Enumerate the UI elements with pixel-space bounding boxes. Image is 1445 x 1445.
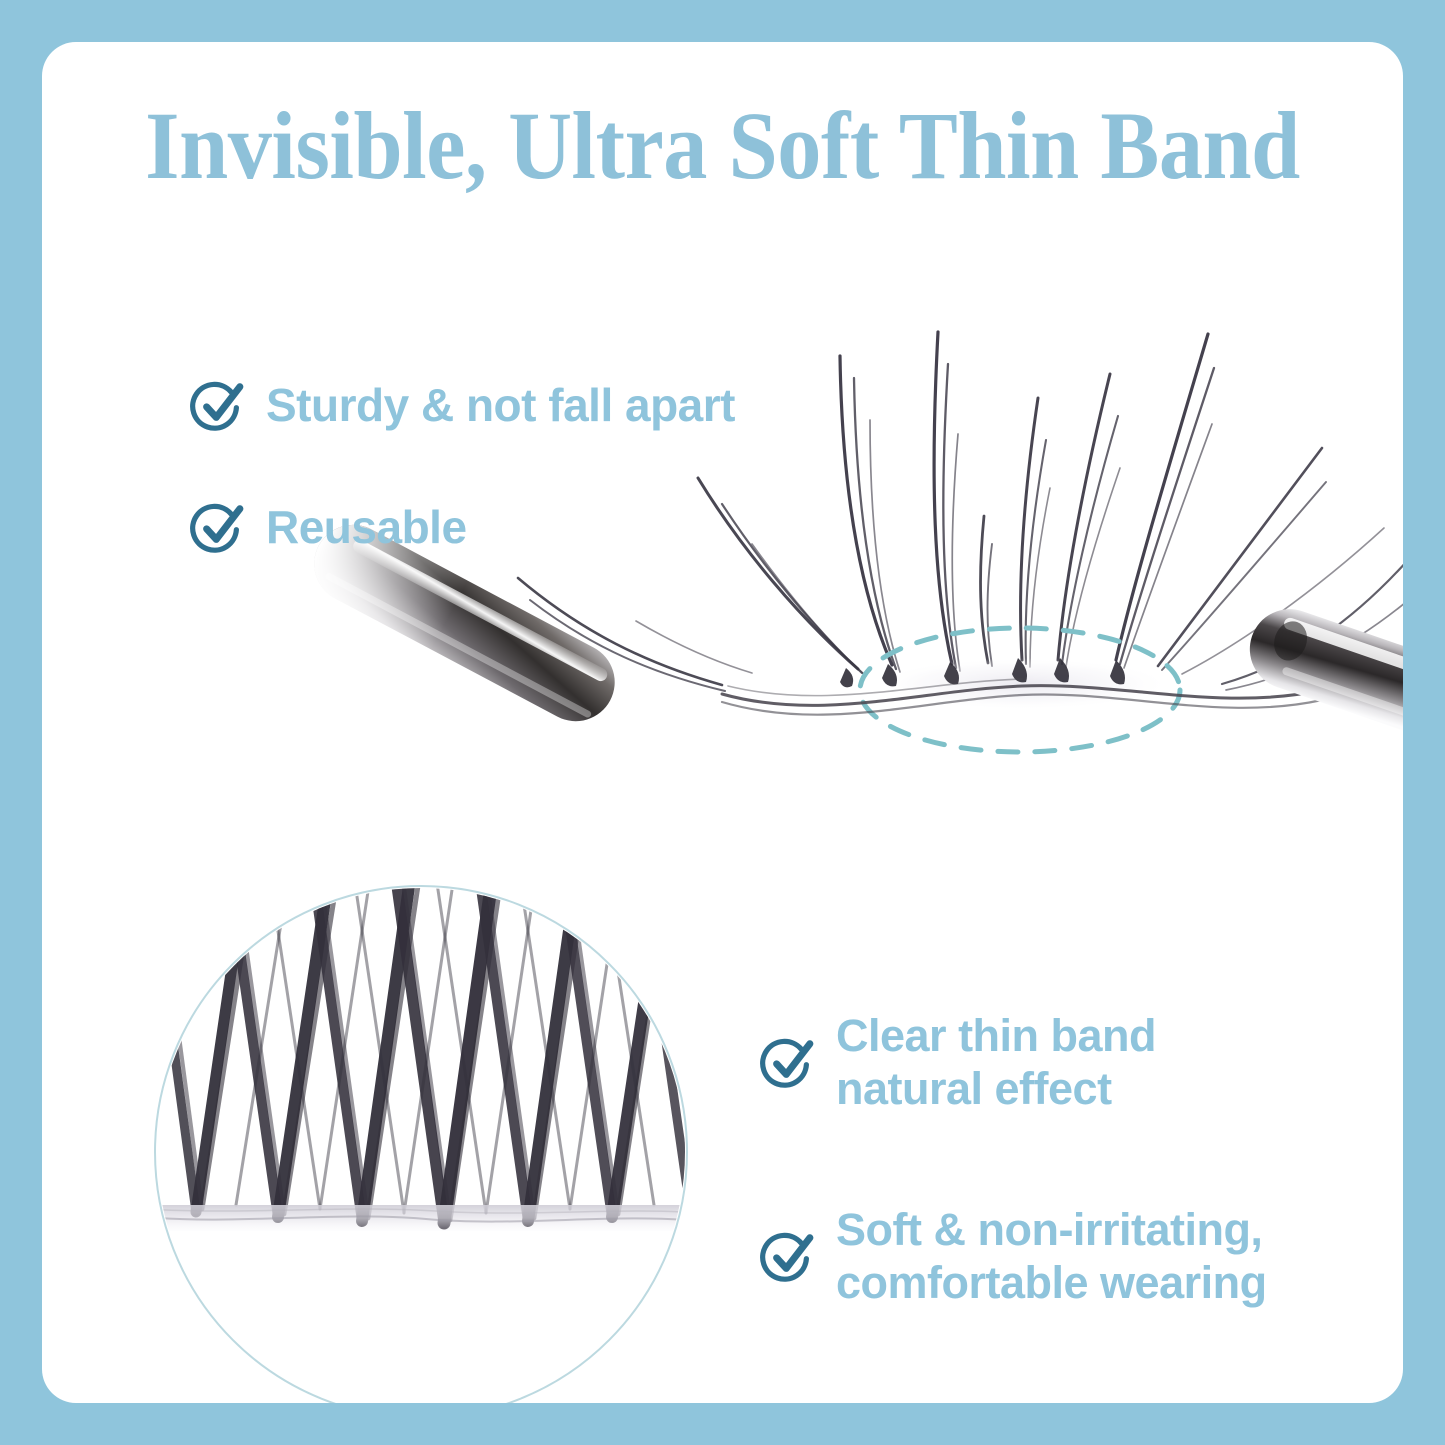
lash-band-macro-closeup-photo [154,885,688,1403]
feature-label: Soft & non-irritating, comfortable weari… [836,1204,1267,1309]
check-circle-icon [190,500,246,556]
feature-item-soft: Soft & non-irritating, comfortable weari… [760,1204,1267,1309]
page-title: Invisible, Ultra Soft Thin Band [96,98,1348,194]
feature-label: Clear thin band natural effect [836,1010,1156,1115]
hero-photo [422,292,1403,852]
feature-item-clear-band: Clear thin band natural effect [760,1010,1156,1115]
feature-label: Reusable [266,501,467,555]
feature-item-sturdy: Sturdy & not fall apart [190,378,735,434]
feature-item-reusable: Reusable [190,500,467,556]
content-card: Invisible, Ultra Soft Thin Band [42,42,1403,1403]
tweezer-tip-right [1239,598,1403,810]
check-circle-icon [760,1229,816,1285]
feature-label: Sturdy & not fall apart [266,379,735,433]
check-circle-icon [760,1035,816,1091]
check-circle-icon [190,378,246,434]
